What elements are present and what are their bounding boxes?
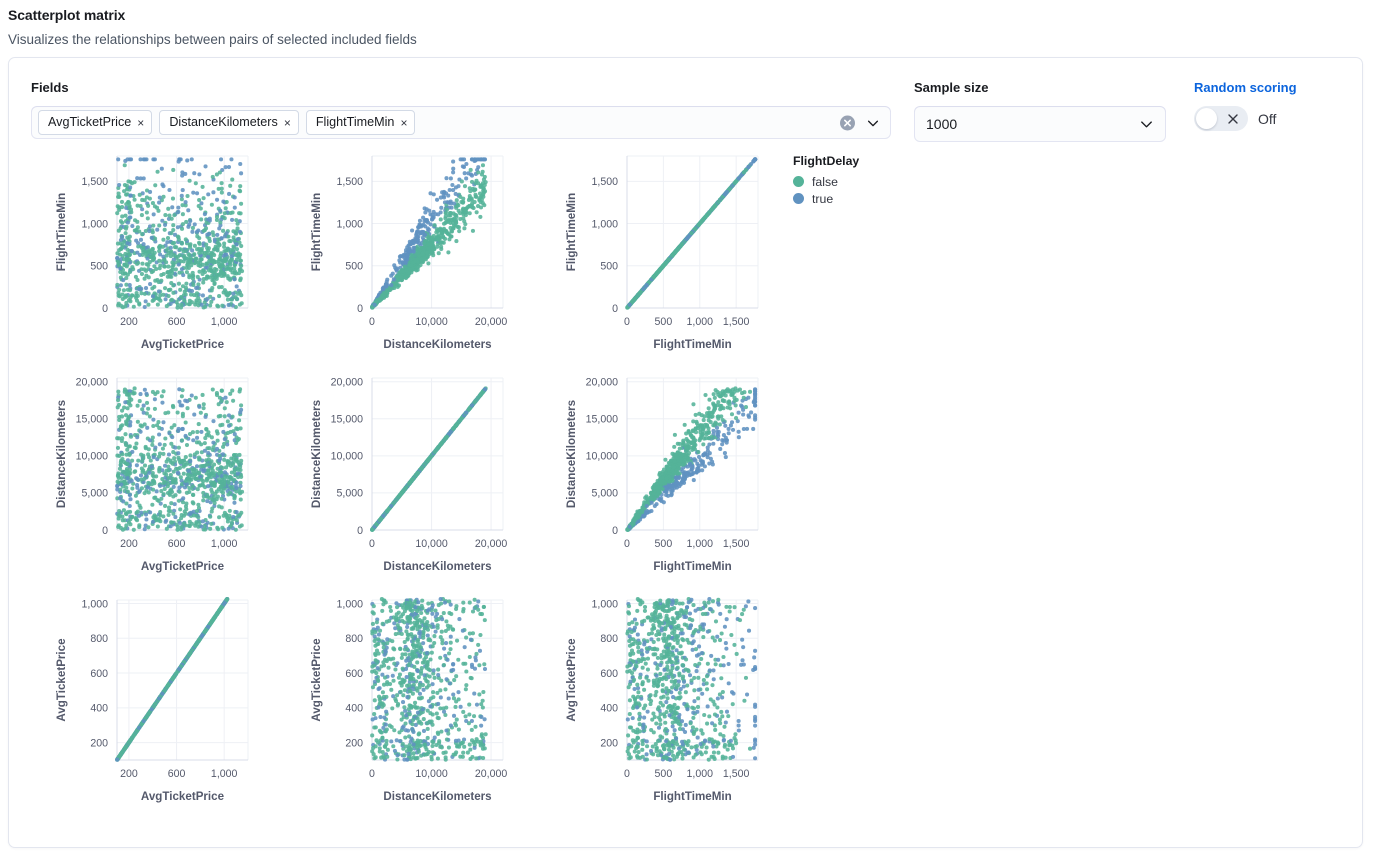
svg-text:1,500: 1,500 [591, 176, 618, 188]
field-pill-label: AvgTicketPrice [48, 116, 131, 129]
svg-text:1,000: 1,000 [211, 316, 238, 328]
random-scoring-control: Random scoring Off [1194, 80, 1297, 131]
close-icon [1227, 113, 1239, 125]
fields-combobox[interactable]: AvgTicketPrice × DistanceKilometers × Fl… [31, 106, 891, 139]
matrix-cell: 010,00020,0002004006008001,000DistanceKi… [264, 594, 519, 829]
legend-item-false[interactable]: false [793, 173, 963, 190]
fields-control: Fields AvgTicketPrice × DistanceKilomete… [31, 80, 891, 139]
x-axis-label: FlightTimeMin [653, 338, 731, 351]
page-subtitle: Visualizes the relationships between pai… [8, 32, 1373, 47]
matrix-cell: 010,00020,00005001,0001,500DistanceKilom… [264, 150, 519, 372]
matrix-cell: 010,00020,00005,00010,00015,00020,000Dis… [264, 372, 519, 594]
x-axis-label: AvgTicketPrice [141, 790, 225, 803]
svg-text:500: 500 [345, 261, 363, 273]
sample-size-control: Sample size 1000 [914, 80, 1166, 142]
data-points [115, 386, 244, 531]
sample-size-value: 1000 [926, 116, 957, 132]
svg-text:600: 600 [168, 316, 186, 328]
matrix-cell: 05001,0001,5002004006008001,000FlightTim… [519, 594, 774, 829]
svg-text:500: 500 [600, 261, 618, 273]
svg-text:0: 0 [102, 525, 108, 537]
svg-text:1,000: 1,000 [81, 218, 108, 230]
data-points [370, 157, 488, 309]
data-points [115, 597, 229, 762]
clear-all-fields-icon[interactable] [840, 115, 855, 130]
y-axis-label: DistanceKilometers [565, 400, 578, 508]
data-points [625, 597, 757, 762]
scatter-cell-avgticketprice-vs-flighttimemin[interactable]: 2006001,00005001,0001,500AvgTicketPriceF… [9, 150, 264, 372]
svg-text:1,000: 1,000 [336, 218, 363, 230]
field-pill-label: FlightTimeMin [316, 116, 395, 129]
toggle-knob [1196, 108, 1217, 129]
svg-text:20,000: 20,000 [475, 316, 508, 328]
x-axis-label: AvgTicketPrice [141, 560, 225, 573]
scatter-cell-distancekilometers-vs-avgticketprice[interactable]: 010,00020,0002004006008001,000DistanceKi… [264, 594, 519, 829]
matrix-row: 2006001,00005001,0001,500AvgTicketPriceF… [9, 150, 799, 372]
scatter-cell-avgticketprice-vs-avgticketprice[interactable]: 2006001,0002004006008001,000AvgTicketPri… [9, 594, 264, 829]
remove-field-icon[interactable]: × [284, 117, 291, 129]
scatter-cell-distancekilometers-vs-distancekilometers[interactable]: 010,00020,00005,00010,00015,00020,000Dis… [264, 372, 519, 594]
random-scoring-row: Off [1194, 106, 1297, 131]
matrix-cell: 2006001,0002004006008001,000AvgTicketPri… [9, 594, 264, 829]
scatter-cell-flighttimemin-vs-flighttimemin[interactable]: 05001,0001,50005001,0001,500FlightTimeMi… [519, 150, 774, 372]
data-points [370, 386, 488, 531]
field-pill-flighttimemin[interactable]: FlightTimeMin × [306, 110, 416, 135]
random-scoring-label[interactable]: Random scoring [1194, 80, 1297, 95]
sample-size-label: Sample size [914, 80, 1166, 95]
field-pill-distancekilometers[interactable]: DistanceKilometers × [159, 110, 299, 135]
random-scoring-state: Off [1258, 111, 1276, 127]
chevron-down-icon[interactable] [866, 116, 880, 130]
svg-text:0: 0 [102, 303, 108, 315]
legend-title: FlightDelay [793, 154, 963, 168]
remove-field-icon[interactable]: × [137, 117, 144, 129]
matrix-cell: 2006001,00005,00010,00015,00020,000AvgTi… [9, 372, 264, 594]
data-points [115, 157, 244, 309]
scatter-cell-flighttimemin-vs-distancekilometers[interactable]: 05001,0001,50005,00010,00015,00020,000Fl… [519, 372, 774, 594]
svg-text:5,000: 5,000 [81, 488, 108, 500]
data-points [370, 597, 488, 762]
matrix-cell: 05001,0001,50005,00010,00015,00020,000Fl… [519, 372, 774, 594]
y-axis-label: FlightTimeMin [55, 193, 68, 271]
svg-text:0: 0 [369, 316, 375, 328]
svg-text:1,500: 1,500 [723, 316, 750, 328]
page-title: Scatterplot matrix [8, 7, 1373, 23]
svg-text:0: 0 [357, 303, 363, 315]
data-points [625, 157, 757, 309]
sample-size-select[interactable]: 1000 [914, 106, 1166, 142]
svg-text:0: 0 [624, 316, 630, 328]
legend: FlightDelay false true [793, 154, 963, 207]
legend-item-label: true [812, 192, 833, 206]
matrix-row: 2006001,00005,00010,00015,00020,000AvgTi… [9, 372, 799, 594]
scatter-cell-flighttimemin-vs-avgticketprice[interactable]: 05001,0001,5002004006008001,000FlightTim… [519, 594, 774, 829]
svg-text:1,500: 1,500 [336, 176, 363, 188]
field-pill-label: DistanceKilometers [169, 116, 278, 129]
x-axis-label: DistanceKilometers [383, 790, 491, 803]
y-axis-label: AvgTicketPrice [310, 638, 323, 722]
svg-text:200: 200 [120, 538, 138, 550]
controls-row: Fields AvgTicketPrice × DistanceKilomete… [9, 58, 1362, 148]
x-axis-label: DistanceKilometers [383, 560, 491, 573]
legend-color-swatch [793, 176, 804, 187]
visualization-card: Fields AvgTicketPrice × DistanceKilomete… [8, 57, 1363, 848]
data-points [625, 386, 757, 531]
x-axis-label: FlightTimeMin [653, 790, 731, 803]
legend-item-true[interactable]: true [793, 190, 963, 207]
fields-label: Fields [31, 80, 891, 95]
legend-color-swatch [793, 193, 804, 204]
y-axis-label: AvgTicketPrice [55, 638, 68, 722]
svg-text:1,500: 1,500 [81, 176, 108, 188]
x-axis-label: DistanceKilometers [383, 338, 491, 351]
x-axis-label: AvgTicketPrice [141, 338, 225, 351]
y-axis-label: DistanceKilometers [310, 400, 323, 508]
y-axis-label: FlightTimeMin [565, 193, 578, 271]
matrix-cell: 05001,0001,50005001,0001,500FlightTimeMi… [519, 150, 774, 372]
svg-text:600: 600 [168, 538, 186, 550]
random-scoring-toggle[interactable] [1194, 106, 1248, 131]
remove-field-icon[interactable]: × [400, 117, 407, 129]
svg-text:500: 500 [90, 261, 108, 273]
svg-text:500: 500 [655, 316, 673, 328]
scatter-cell-distancekilometers-vs-flighttimemin[interactable]: 010,00020,00005001,0001,500DistanceKilom… [264, 150, 519, 372]
svg-text:200: 200 [120, 316, 138, 328]
legend-item-label: false [812, 175, 838, 189]
y-axis-label: FlightTimeMin [310, 193, 323, 271]
svg-text:1,000: 1,000 [211, 538, 238, 550]
svg-text:0: 0 [612, 303, 618, 315]
chevron-down-icon[interactable] [1139, 117, 1154, 132]
scatterplot-matrix: 2006001,00005001,0001,500AvgTicketPriceF… [9, 150, 799, 829]
svg-text:1,000: 1,000 [687, 316, 714, 328]
svg-text:1,000: 1,000 [591, 218, 618, 230]
field-pill-avgticketprice[interactable]: AvgTicketPrice × [38, 110, 152, 135]
svg-text:10,000: 10,000 [76, 451, 109, 463]
scatterplot-matrix-page: Scatterplot matrix Visualizes the relati… [0, 7, 1373, 47]
matrix-cell: 2006001,00005001,0001,500AvgTicketPriceF… [9, 150, 264, 372]
svg-text:20,000: 20,000 [76, 377, 109, 389]
x-axis-label: FlightTimeMin [653, 560, 731, 573]
matrix-row: 2006001,0002004006008001,000AvgTicketPri… [9, 594, 799, 829]
svg-text:15,000: 15,000 [76, 414, 109, 426]
scatter-cell-avgticketprice-vs-distancekilometers[interactable]: 2006001,00005,00010,00015,00020,000AvgTi… [9, 372, 264, 594]
svg-text:10,000: 10,000 [415, 316, 448, 328]
y-axis-label: AvgTicketPrice [565, 638, 578, 722]
y-axis-label: DistanceKilometers [55, 400, 68, 508]
